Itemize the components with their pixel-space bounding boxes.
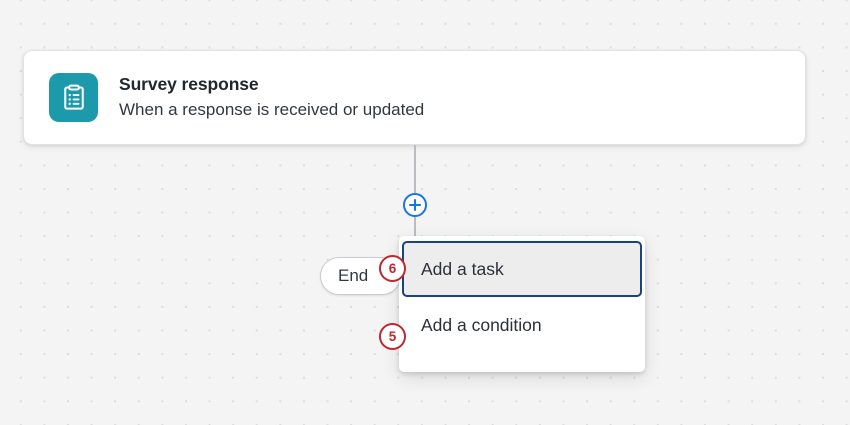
- action-menu[interactable]: Add a task Add a condition: [399, 236, 645, 372]
- clipboard-list-icon: [49, 73, 98, 122]
- menu-item-add-a-task-label: Add a task: [421, 259, 504, 280]
- trigger-title: Survey response: [119, 73, 424, 96]
- trigger-card-text: Survey response When a response is recei…: [119, 73, 424, 122]
- menu-item-add-a-task[interactable]: Add a task: [402, 241, 642, 297]
- trigger-subtitle: When a response is received or updated: [119, 97, 424, 122]
- trigger-card[interactable]: Survey response When a response is recei…: [23, 50, 806, 145]
- connector-line-top: [414, 145, 416, 195]
- plus-circle-icon[interactable]: [403, 193, 427, 217]
- annotation-badge-6: 6: [379, 255, 406, 282]
- annotation-badge-5: 5: [379, 323, 406, 350]
- menu-item-add-a-condition-label: Add a condition: [421, 315, 542, 336]
- menu-item-add-a-condition[interactable]: Add a condition: [402, 297, 642, 353]
- end-node-label: End: [338, 266, 368, 286]
- workflow-canvas[interactable]: Survey response When a response is recei…: [0, 0, 850, 425]
